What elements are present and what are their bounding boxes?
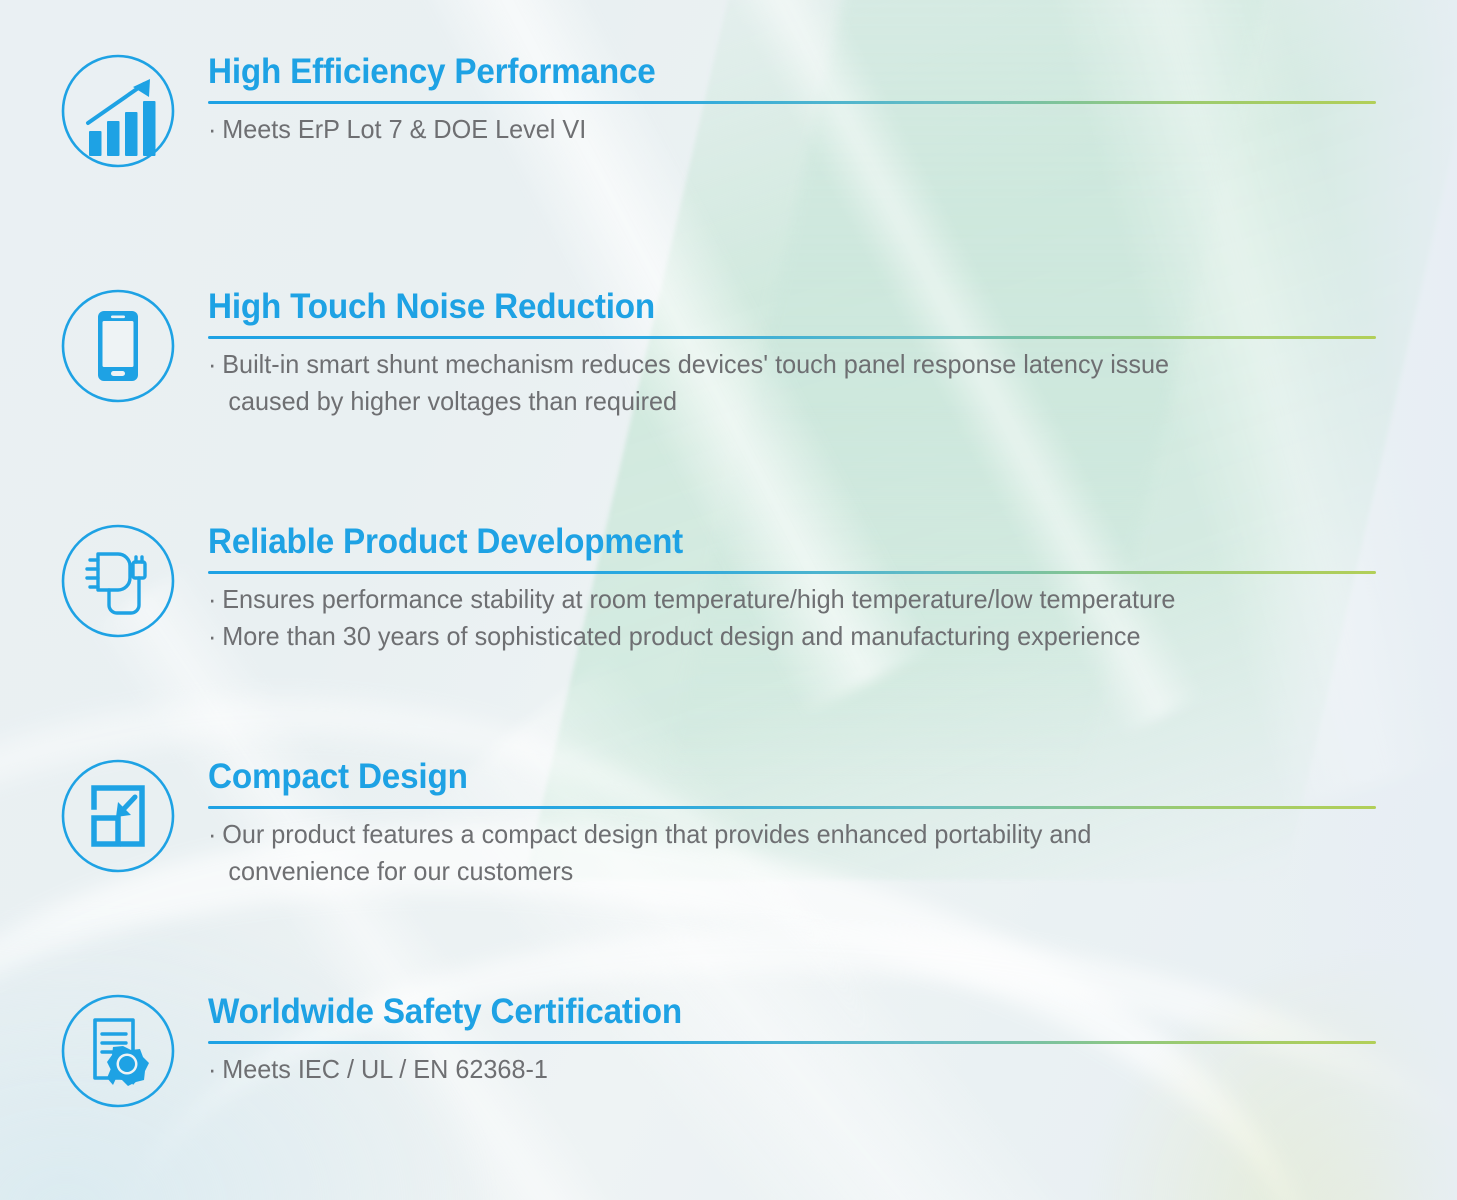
smartphone-icon — [57, 285, 179, 407]
feature-divider — [208, 571, 1376, 574]
feature-bullet-text: Meets ErP Lot 7 & DOE Level VI — [222, 114, 586, 144]
feature-bullet-line-continuation: convenience for our customers — [208, 853, 1361, 890]
feature-text-column: Compact Design ·Our product features a c… — [208, 755, 1397, 890]
feature-bullet-line: ·More than 30 years of sophisticated pro… — [208, 618, 1361, 655]
feature-bullet-list: ·Meets ErP Lot 7 & DOE Level VI — [208, 111, 1397, 148]
bullet-mark: · — [208, 349, 216, 379]
feature-text-column: High Touch Noise Reduction ·Built-in sma… — [208, 285, 1397, 420]
feature-text-column: Reliable Product Development ·Ensures pe… — [208, 520, 1397, 655]
feature-title: Reliable Product Development — [208, 520, 1338, 564]
feature-bullet-text: Our product features a compact design th… — [222, 819, 1091, 849]
feature-bullet-list: ·Built-in smart shunt mechanism reduces … — [208, 346, 1397, 420]
feature-divider — [208, 336, 1376, 339]
feature-title: Compact Design — [208, 755, 1338, 799]
bullet-mark: · — [208, 819, 216, 849]
feature-bullet-list: ·Ensures performance stability at room t… — [208, 581, 1397, 655]
feature-title: High Efficiency Performance — [208, 50, 1338, 94]
feature-bullet-line: ·Built-in smart shunt mechanism reduces … — [208, 346, 1361, 383]
bullet-mark: · — [208, 1054, 216, 1084]
certificate-seal-icon — [57, 990, 179, 1112]
feature-bullet-text: Meets IEC / UL / EN 62368-1 — [222, 1054, 548, 1084]
bullet-mark: · — [208, 114, 216, 144]
bullet-mark: · — [208, 584, 216, 614]
feature-bullet-line: ·Meets ErP Lot 7 & DOE Level VI — [208, 111, 1361, 148]
compact-resize-icon — [57, 755, 179, 877]
feature-bullet-list: ·Our product features a compact design t… — [208, 816, 1397, 890]
growth-bar-chart-icon — [57, 50, 179, 172]
feature-text-column: Worldwide Safety Certification ·Meets IE… — [208, 990, 1397, 1088]
feature-title: Worldwide Safety Certification — [208, 990, 1338, 1034]
power-adapter-icon — [57, 520, 179, 642]
feature-bullet-text: Built-in smart shunt mechanism reduces d… — [222, 349, 1169, 379]
feature-divider — [208, 1041, 1376, 1044]
feature-bullet-text: More than 30 years of sophisticated prod… — [222, 621, 1140, 651]
feature-divider — [208, 806, 1376, 809]
feature-bullet-text: Ensures performance stability at room te… — [222, 584, 1175, 614]
bullet-mark: · — [208, 621, 216, 651]
feature-bullet-line: ·Our product features a compact design t… — [208, 816, 1361, 853]
feature-title: High Touch Noise Reduction — [208, 285, 1338, 329]
feature-bullet-line-continuation: caused by higher voltages than required — [208, 383, 1361, 420]
feature-text-column: High Efficiency Performance ·Meets ErP L… — [208, 50, 1397, 148]
feature-bullet-line: ·Meets IEC / UL / EN 62368-1 — [208, 1051, 1361, 1088]
feature-divider — [208, 101, 1376, 104]
feature-bullet-list: ·Meets IEC / UL / EN 62368-1 — [208, 1051, 1397, 1088]
feature-bullet-line: ·Ensures performance stability at room t… — [208, 581, 1361, 618]
